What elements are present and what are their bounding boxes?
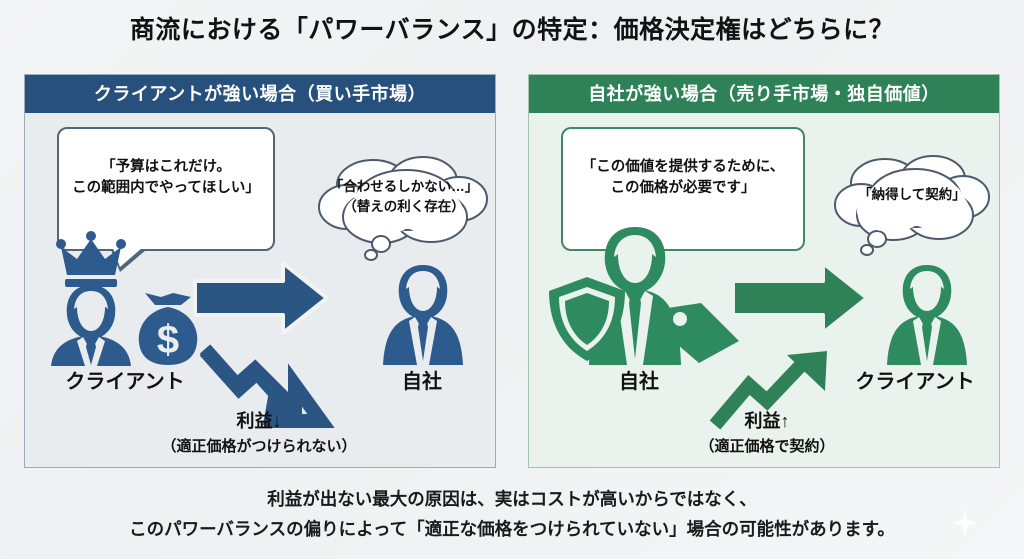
figure-self [377, 261, 469, 365]
speech-bubble-client-text: 「予算はこれだけ。 この範囲内でやってほしい」 [72, 159, 260, 196]
panel-body-self-strong: 「この価値を提供するために、 この価格が必要です」 [529, 113, 999, 469]
sparkle-icon [952, 508, 978, 538]
thought-cloud-client: 「納得して契約」 [829, 153, 995, 255]
profit-label-down: 利益↓ （適正価格がつけられない） [129, 409, 389, 459]
page-title: 商流における「パワーバランス」の特定：価格決定権はどちらに？ [0, 12, 1024, 48]
speech-bubble-self-text: 「この価値を提供するために、 この価格が必要です」 [582, 159, 785, 196]
crown-icon [56, 231, 126, 287]
label-client-right: クライアント [825, 365, 1005, 394]
footer-caption: 利益が出ない最大の原因は、実はコストが高いからではなく、 このパワーバランスの偏… [0, 484, 1024, 544]
profit-note-up: （適正価格で契約） [637, 434, 897, 459]
slide-canvas: 商流における「パワーバランス」の特定：価格決定権はどちらに？ クライアントが強い… [0, 0, 1024, 559]
profit-label-up: 利益↑ （適正価格で契約） [637, 409, 897, 459]
panel-header-self-strong: 自社が強い場合（売り手市場・独自価値） [529, 75, 999, 113]
flow-arrow-right [729, 259, 871, 337]
profit-note-down: （適正価格がつけられない） [129, 434, 389, 459]
businessperson-icon [383, 265, 463, 365]
flow-arrow-right [191, 259, 331, 337]
label-client: クライアント [35, 365, 215, 394]
thought-cloud-client-text: 「納得して契約」 [829, 185, 995, 205]
panel-header-client-strong: クライアントが強い場合（買い手市場） [25, 75, 495, 113]
money-bag-icon: $ [139, 293, 198, 365]
figure-self-strong [543, 223, 743, 365]
money-symbol: $ [157, 318, 179, 362]
panel-client-strong: クライアントが強い場合（買い手市場） 「予算はこれだけ。 この範囲内でやってほし… [24, 74, 496, 468]
thought-cloud-self-text: 「合わせるしかない…」 （替えの利く存在） [311, 177, 497, 217]
label-self: 自社 [337, 365, 507, 394]
profit-value-up: 利益↑ [745, 411, 790, 431]
label-self-strong: 自社 [549, 365, 729, 394]
profit-value-down: 利益↓ [237, 411, 282, 431]
panel-self-strong: 自社が強い場合（売り手市場・独自価値） 「この価値を提供するために、 この価格が… [528, 74, 1000, 468]
figure-client-right [881, 261, 973, 365]
thought-cloud-self: 「合わせるしかない…」 （替えの利く存在） [311, 155, 497, 257]
businessperson-icon [51, 285, 131, 366]
panel-body-client-strong: 「予算はこれだけ。 この範囲内でやってほしい」 [25, 113, 495, 469]
businessperson-icon [887, 265, 967, 365]
